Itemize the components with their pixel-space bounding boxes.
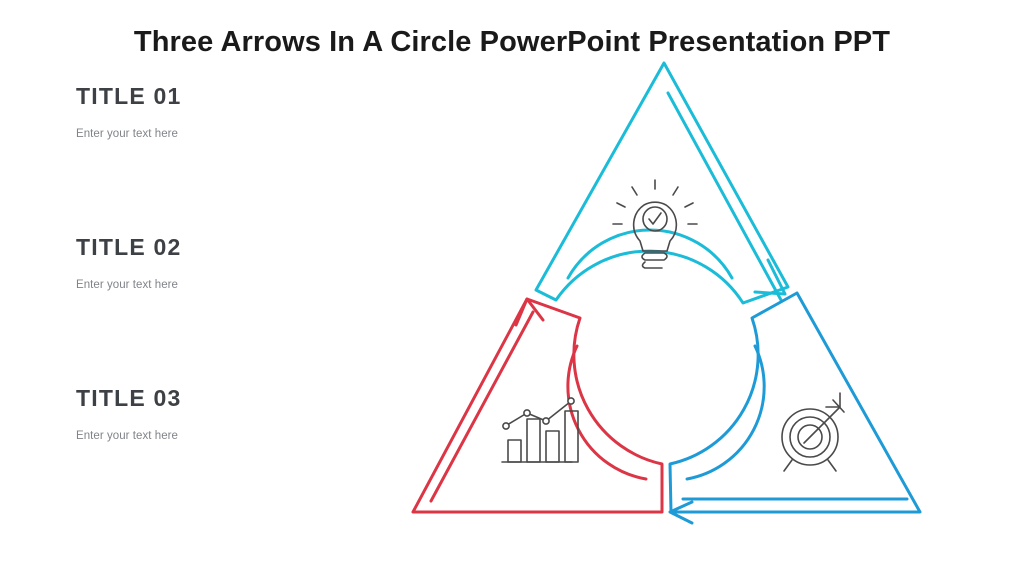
diagram-segment-left[interactable] <box>413 299 662 512</box>
legend-item-1[interactable]: TITLE 01 Enter your text here <box>76 84 376 142</box>
slide-canvas: Three Arrows In A Circle PowerPoint Pres… <box>0 0 1024 576</box>
left-segment-inner-arc <box>568 346 646 479</box>
left-segment-outline <box>413 299 662 512</box>
right-segment-outline <box>670 293 920 512</box>
legend-item-1-description: Enter your text here <box>76 128 376 142</box>
target-arrow-icon <box>782 393 844 471</box>
legend-item-2[interactable]: TITLE 02 Enter your text here <box>76 235 376 293</box>
top-segment-inner-arc <box>568 230 732 278</box>
legend-item-3-title: TITLE 03 <box>76 386 376 411</box>
legend-item-2-title: TITLE 02 <box>76 235 376 260</box>
bar-chart-growth-icon <box>502 398 578 462</box>
three-arrow-circle-diagram <box>396 50 976 540</box>
legend-item-2-description: Enter your text here <box>76 279 376 293</box>
diagram-segment-top[interactable] <box>536 63 788 303</box>
right-segment-inner-arc <box>687 346 764 479</box>
diagram-segment-right[interactable] <box>670 293 920 523</box>
legend-item-3-description: Enter your text here <box>76 430 376 444</box>
left-segment-inner-arrow <box>431 312 533 501</box>
legend-item-3[interactable]: TITLE 03 Enter your text here <box>76 386 376 444</box>
legend-item-1-title: TITLE 01 <box>76 84 376 109</box>
